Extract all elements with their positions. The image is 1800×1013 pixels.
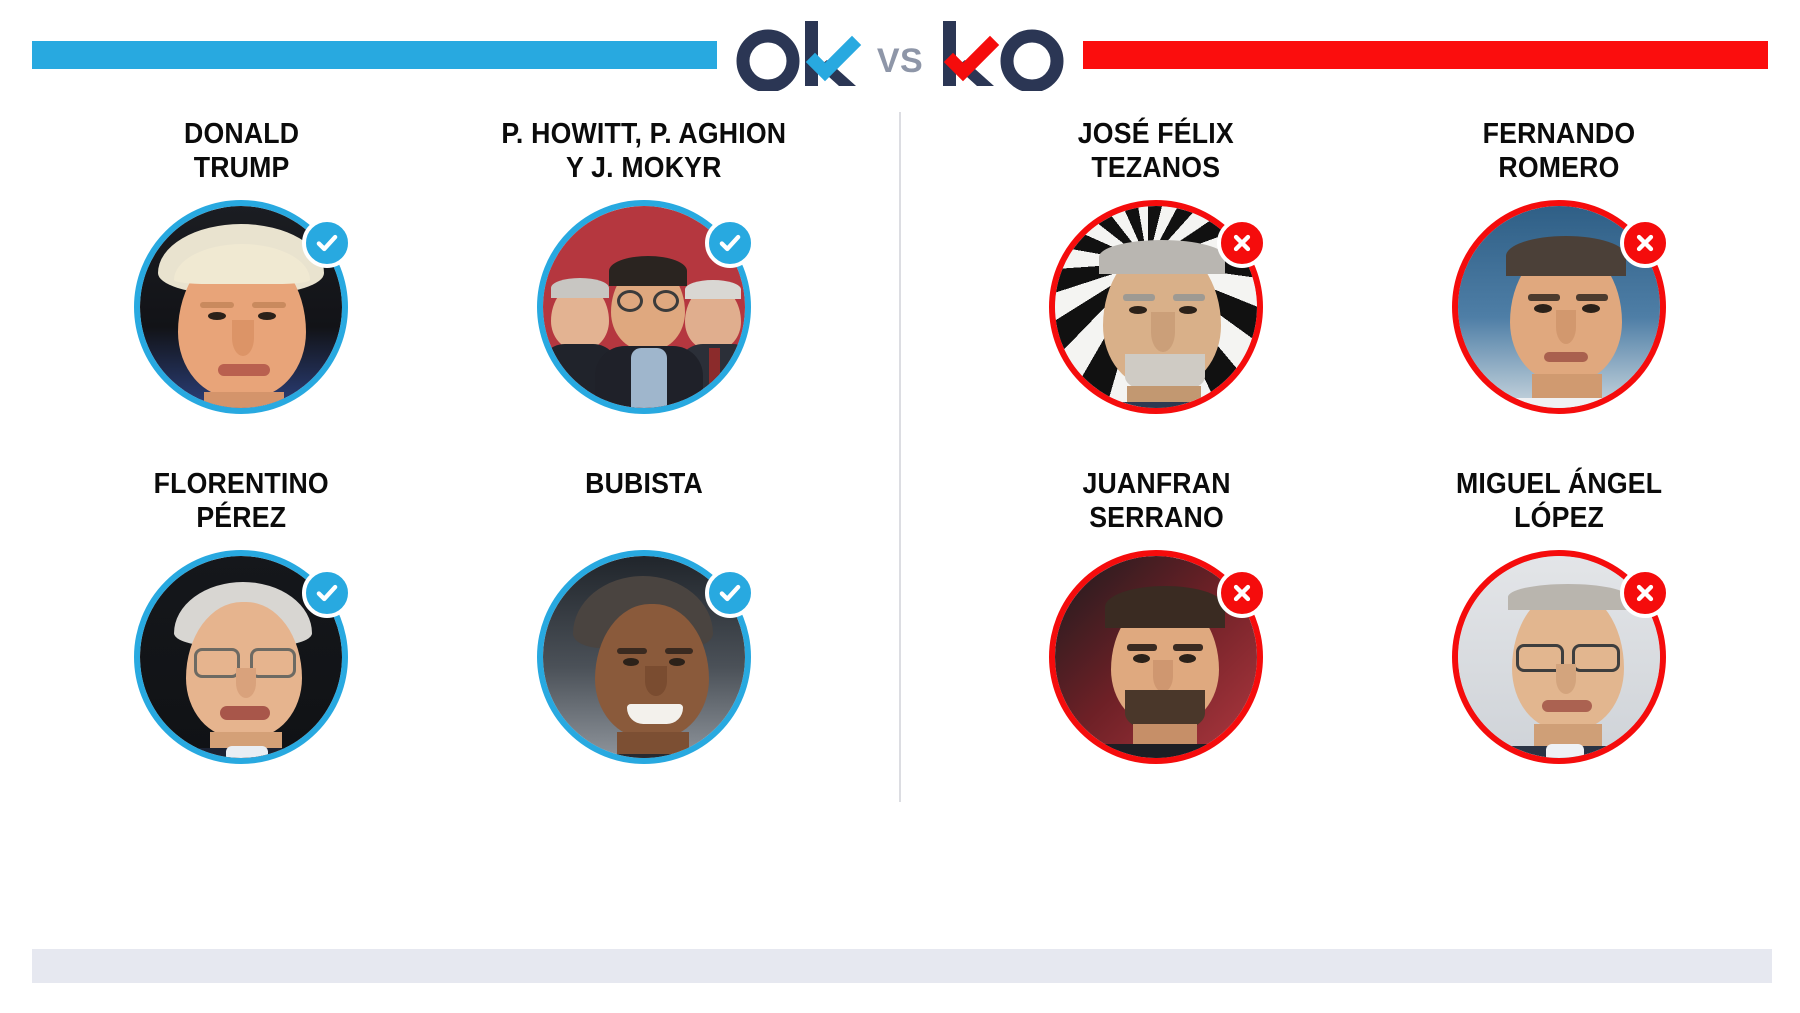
x-badge bbox=[1217, 218, 1267, 268]
avatar bbox=[134, 200, 348, 414]
avatar bbox=[1452, 550, 1666, 764]
entry-card[interactable]: FLORENTINO PÉREZ bbox=[40, 460, 443, 810]
avatar bbox=[537, 550, 751, 764]
entry-name: JUANFRAN SERRANO bbox=[1082, 468, 1230, 542]
check-icon bbox=[314, 580, 340, 606]
avatar bbox=[537, 200, 751, 414]
check-badge bbox=[302, 568, 352, 618]
comparison-board: DONALD TRUMP bbox=[0, 110, 1800, 810]
check-icon bbox=[717, 230, 743, 256]
entry-card[interactable]: JOSÉ FÉLIX TEZANOS bbox=[955, 110, 1358, 460]
ok-panel: DONALD TRUMP bbox=[0, 110, 900, 810]
ok-wordmark bbox=[735, 19, 863, 91]
check-badge bbox=[705, 218, 755, 268]
avatar bbox=[1452, 200, 1666, 414]
entry-card[interactable]: BUBISTA bbox=[443, 460, 846, 810]
entry-card[interactable]: MIGUEL ÁNGEL LÓPEZ bbox=[1358, 460, 1761, 810]
vs-label: VS bbox=[877, 42, 923, 81]
entry-name: FLORENTINO PÉREZ bbox=[154, 468, 329, 542]
entry-name: DONALD TRUMP bbox=[184, 118, 299, 192]
check-icon bbox=[314, 230, 340, 256]
x-icon bbox=[1229, 580, 1255, 606]
check-icon bbox=[717, 580, 743, 606]
entry-name: FERNANDO ROMERO bbox=[1482, 118, 1635, 192]
entry-card[interactable]: JUANFRAN SERRANO bbox=[955, 460, 1358, 810]
x-icon bbox=[1632, 580, 1658, 606]
avatar bbox=[1049, 200, 1263, 414]
entry-name: JOSÉ FÉLIX TEZANOS bbox=[1078, 118, 1234, 192]
entry-name: P. HOWITT, P. AGHION Y J. MOKYR bbox=[501, 118, 786, 192]
ok-vs-ko-logo: VS bbox=[717, 0, 1083, 110]
entry-name: BUBISTA bbox=[585, 468, 703, 542]
entry-card[interactable]: FERNANDO ROMERO bbox=[1358, 110, 1761, 460]
header-rule-right bbox=[1083, 41, 1768, 69]
entry-card[interactable]: P. HOWITT, P. AGHION Y J. MOKYR bbox=[443, 110, 846, 460]
okdiario-ok-vs-ko-graphic: VS DONALD TRUMP bbox=[0, 0, 1800, 1013]
header-rule-left bbox=[32, 41, 717, 69]
x-badge bbox=[1620, 218, 1670, 268]
check-badge bbox=[302, 218, 352, 268]
footer-bar bbox=[32, 949, 1772, 983]
avatar bbox=[1049, 550, 1263, 764]
header: VS bbox=[0, 0, 1800, 110]
ko-wordmark bbox=[937, 19, 1065, 91]
x-badge bbox=[1217, 568, 1267, 618]
ko-panel: JOSÉ FÉLIX TEZANOS bbox=[900, 110, 1800, 810]
entry-card[interactable]: DONALD TRUMP bbox=[40, 110, 443, 460]
x-icon bbox=[1632, 230, 1658, 256]
entry-name: MIGUEL ÁNGEL LÓPEZ bbox=[1456, 468, 1662, 542]
x-badge bbox=[1620, 568, 1670, 618]
check-badge bbox=[705, 568, 755, 618]
avatar bbox=[134, 550, 348, 764]
x-icon bbox=[1229, 230, 1255, 256]
